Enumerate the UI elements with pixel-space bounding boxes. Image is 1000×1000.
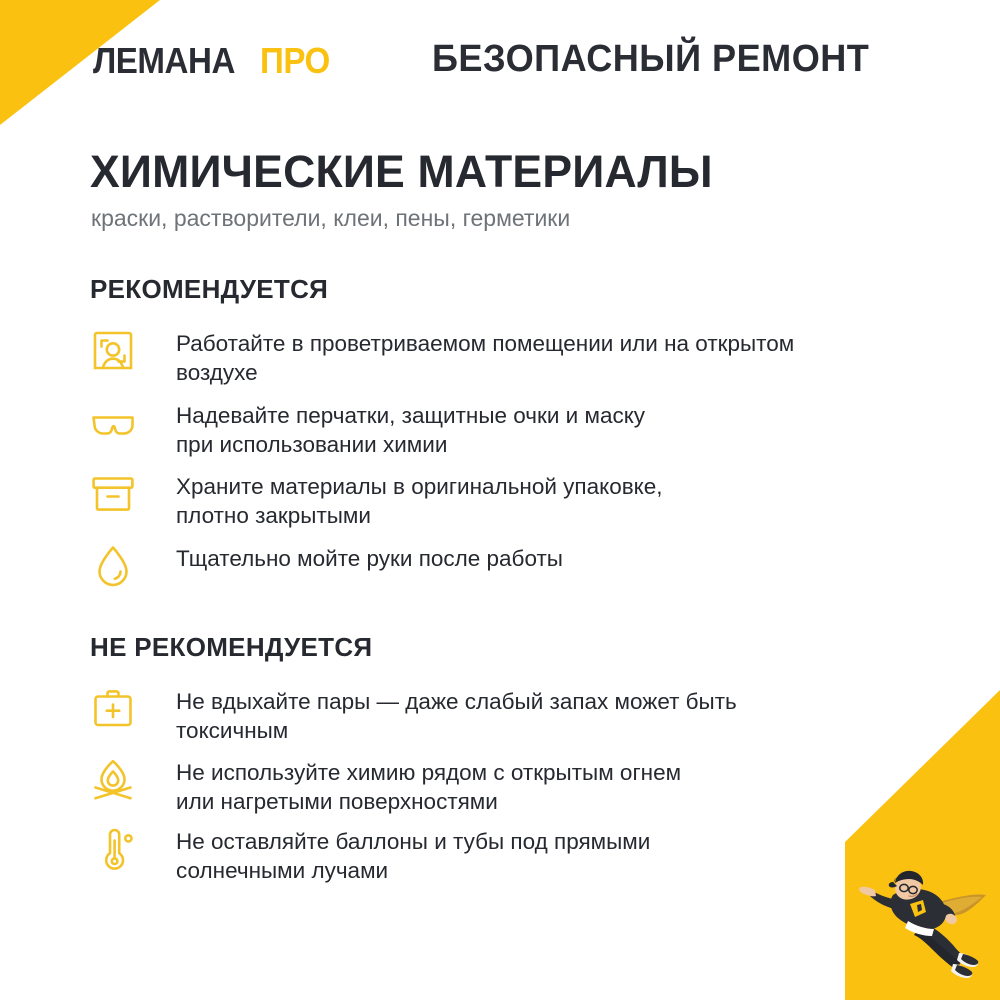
list-item-text: Тщательно мойте руки после работы [176,543,900,573]
list-item-text: Не вдыхайте пары — даже слабый запах мож… [176,686,900,745]
list-item-line2: или нагретыми поверхностями [176,787,900,816]
list-item-line2: солнечными лучами [176,856,900,885]
brand-logo-primary: ЛЕМАНА [93,40,235,82]
list-item: Не вдыхайте пары — даже слабый запах мож… [90,686,900,745]
list-item-text: Работайте в проветриваемом помещении или… [176,328,900,387]
flying-superhero-mascot [846,865,996,980]
campaign-title: БЕЗОПАСНЫЙ РЕМОНТ [432,38,869,81]
campfire-icon [90,757,136,803]
list-item: Храните материалы в оригинальной упаковк… [90,471,900,530]
list-item-line1: Тщательно мойте руки после работы [176,546,563,571]
list-item-text: Не используйте химию рядом с открытым ог… [176,757,900,816]
list-item-line1: Храните материалы в оригинальной упаковк… [176,474,663,499]
brand-logo-secondary: ПРО [260,40,330,82]
page-title: ХИМИЧЕСКИЕ МАТЕРИАЛЫ [90,146,713,198]
list-item: Надевайте перчатки, защитные очки и маск… [90,400,900,459]
list-item-line2: токсичным [176,716,900,745]
section-heading-recommended: РЕКОМЕНДУЕТСЯ [90,274,328,305]
list-item-line1: Не вдыхайте пары — даже слабый запах мож… [176,689,737,714]
list-item: Не оставляйте баллоны и тубы под прямыми… [90,826,900,885]
page-subtitle: краски, растворители, клеи, пены, гермет… [91,205,570,232]
section-heading-not-recommended: НЕ РЕКОМЕНДУЕТСЯ [90,632,372,663]
list-item-line1: Надевайте перчатки, защитные очки и маск… [176,403,645,428]
brand-logo: ЛЕМАНА ПРО [93,40,336,82]
list-item: Не используйте химию рядом с открытым ог… [90,757,900,816]
water-drop-icon [90,543,136,589]
first-aid-kit-icon [90,686,136,732]
list-item-text: Не оставляйте баллоны и тубы под прямыми… [176,826,900,885]
list-item-text: Храните материалы в оригинальной упаковк… [176,471,900,530]
storage-box-icon [90,471,136,517]
list-item-line2: плотно закрытыми [176,501,900,530]
list-item-line2: при использовании химии [176,430,900,459]
list-item: Работайте в проветриваемом помещении или… [90,328,900,387]
ventilated-room-icon [90,328,136,374]
list-item-line1: Не оставляйте баллоны и тубы под прямыми [176,829,650,854]
list-item-line1: Не используйте химию рядом с открытым ог… [176,760,681,785]
poster-header: ЛЕМАНА ПРО БЕЗОПАСНЫЙ РЕМОНТ [0,40,1000,90]
list-item-line1: Работайте в проветриваемом помещении или… [176,331,794,356]
list-item-line2: воздухе [176,358,900,387]
list-item-text: Надевайте перчатки, защитные очки и маск… [176,400,900,459]
list-item: Тщательно мойте руки после работы [90,543,900,589]
safety-goggles-icon [90,400,136,446]
poster-canvas: ЛЕМАНА ПРО БЕЗОПАСНЫЙ РЕМОНТ ХИМИЧЕСКИЕ … [0,0,1000,1000]
thermometer-sun-icon [90,826,136,872]
